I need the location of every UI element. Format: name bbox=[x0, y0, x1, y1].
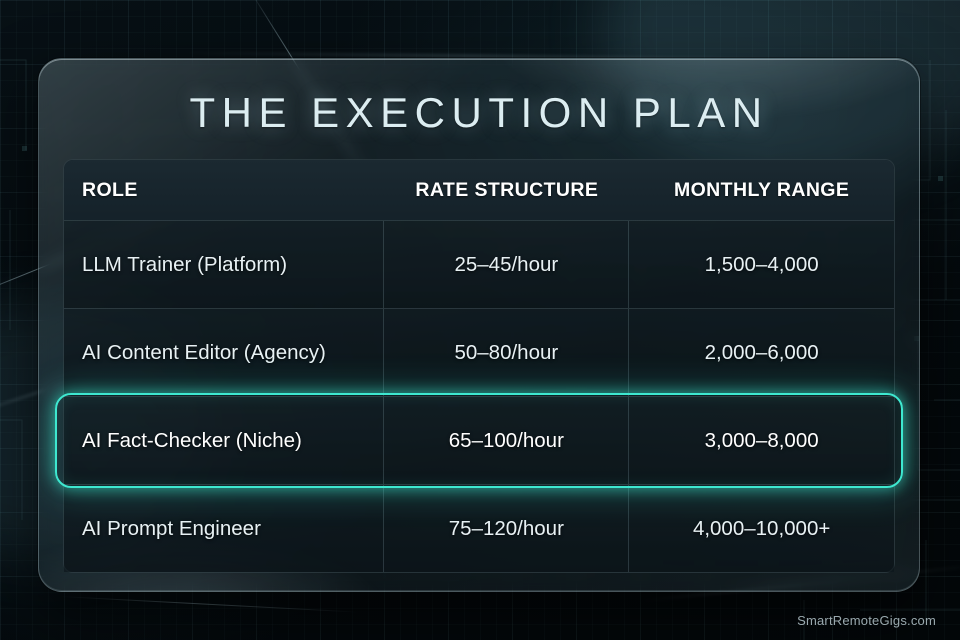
watermark: SmartRemoteGigs.com bbox=[797, 613, 936, 628]
cell-rate: 50–80/hour bbox=[384, 309, 629, 396]
table-row[interactable]: AI Content Editor (Agency) 50–80/hour 2,… bbox=[64, 308, 894, 396]
glass-card: THE EXECUTION PLAN ROLE RATE STRUCTURE M… bbox=[38, 58, 920, 592]
cell-role: LLM Trainer (Platform) bbox=[64, 221, 384, 308]
page-title: THE EXECUTION PLAN bbox=[39, 89, 919, 137]
cell-rate: 25–45/hour bbox=[384, 221, 629, 308]
table-row-highlighted[interactable]: AI Fact-Checker (Niche) 65–100/hour 3,00… bbox=[64, 396, 894, 484]
cell-range: 3,000–8,000 bbox=[629, 397, 894, 484]
cell-range: 4,000–10,000+ bbox=[629, 485, 894, 572]
cell-rate: 65–100/hour bbox=[384, 397, 629, 484]
column-header-role: ROLE bbox=[64, 160, 384, 220]
cell-role: AI Fact-Checker (Niche) bbox=[64, 397, 384, 484]
cell-range: 2,000–6,000 bbox=[629, 309, 894, 396]
table-row[interactable]: AI Prompt Engineer 75–120/hour 4,000–10,… bbox=[64, 484, 894, 572]
cell-role: AI Content Editor (Agency) bbox=[64, 309, 384, 396]
column-header-rate: RATE STRUCTURE bbox=[384, 160, 629, 220]
table-header-row: ROLE RATE STRUCTURE MONTHLY RANGE bbox=[64, 160, 894, 220]
cell-rate: 75–120/hour bbox=[384, 485, 629, 572]
table-row[interactable]: LLM Trainer (Platform) 25–45/hour 1,500–… bbox=[64, 220, 894, 308]
column-header-range: MONTHLY RANGE bbox=[629, 160, 894, 220]
cell-range: 1,500–4,000 bbox=[629, 221, 894, 308]
cell-role: AI Prompt Engineer bbox=[64, 485, 384, 572]
plan-table: ROLE RATE STRUCTURE MONTHLY RANGE LLM Tr… bbox=[63, 159, 895, 573]
light-streak-6 bbox=[60, 596, 360, 613]
slide-canvas: THE EXECUTION PLAN ROLE RATE STRUCTURE M… bbox=[0, 0, 960, 640]
